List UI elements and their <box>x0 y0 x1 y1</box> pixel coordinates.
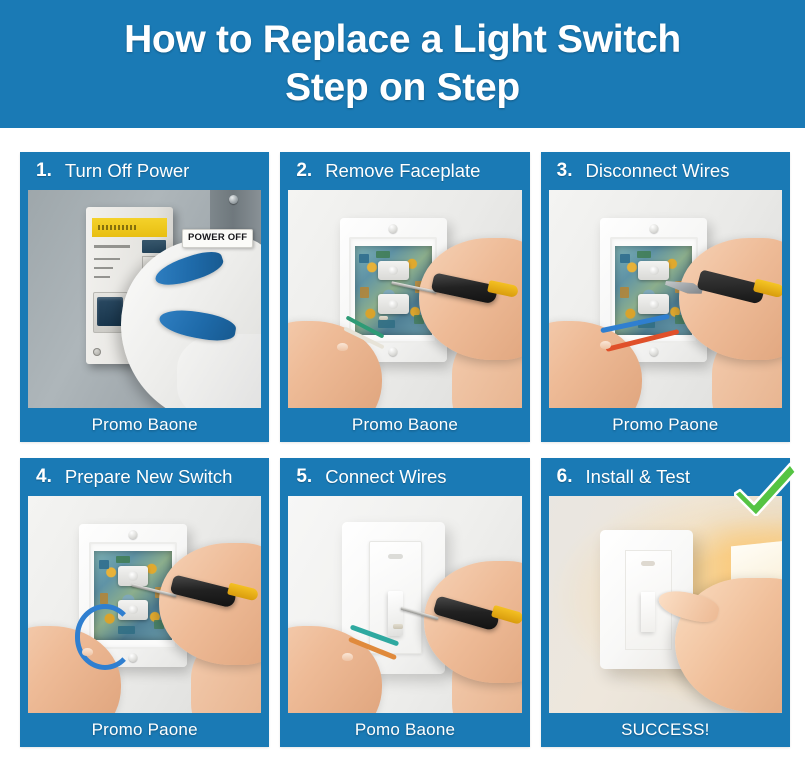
infographic-page: How to Replace a Light Switch Step on St… <box>0 0 805 761</box>
step-title-6: Install & Test <box>586 466 691 488</box>
step-header-6: 6. Install & Test <box>541 458 790 496</box>
page-title-line-1: How to Replace a Light Switch <box>124 17 681 63</box>
internal-component <box>100 593 108 604</box>
wire-stripped-tip <box>393 624 403 629</box>
step-title-1: Turn Off Power <box>65 160 189 182</box>
step-photo-4 <box>28 496 261 714</box>
step-number-3: 3. <box>557 160 573 182</box>
internal-component <box>620 254 630 263</box>
internal-component <box>360 287 368 298</box>
internal-component <box>376 251 390 258</box>
page-title-line-2: Step on Step <box>285 65 520 111</box>
thumbnail <box>600 341 611 349</box>
faceplate-screw-icon <box>389 347 398 356</box>
step-card-5[interactable]: 5. Connect Wires <box>280 458 529 748</box>
step-photo-3 <box>549 190 782 408</box>
step-number-4: 4. <box>36 466 52 488</box>
step-caption-1: Promo Baone <box>20 408 269 442</box>
internal-component <box>99 560 109 569</box>
screwdriver[interactable] <box>400 598 521 646</box>
step-title-5: Connect Wires <box>325 466 446 488</box>
steps-grid: 1. Turn Off Power <box>20 152 790 747</box>
step-caption-3: Promo Paone <box>541 408 790 442</box>
faceplate-screw-icon <box>649 347 658 356</box>
faceplate-screw-icon <box>389 224 398 233</box>
screwdriver-shaft <box>391 281 437 294</box>
step-number-2: 2. <box>296 160 312 182</box>
internal-component <box>620 287 628 298</box>
step-number-1: 1. <box>36 160 52 182</box>
step-header-1: 1. Turn Off Power <box>20 152 269 190</box>
screwdriver[interactable] <box>131 574 262 622</box>
glove-cuff <box>177 334 261 408</box>
thumbnail <box>82 648 93 656</box>
step-card-4[interactable]: 4. Prepare New Switch <box>20 458 269 748</box>
step-number-5: 5. <box>296 466 312 488</box>
step-number-6: 6. <box>557 466 573 488</box>
switch-paddle[interactable] <box>641 592 655 632</box>
step-caption-5: Pomo Baone <box>280 713 529 747</box>
breaker-print-line <box>94 245 130 248</box>
step-card-3[interactable]: 3. Disconnect Wires <box>541 152 790 442</box>
step-title-4: Prepare New Switch <box>65 466 233 488</box>
step-header-2: 2. Remove Faceplate <box>280 152 529 190</box>
screwdriver[interactable] <box>391 270 522 318</box>
step-header-5: 5. Connect Wires <box>280 458 529 496</box>
step-caption-6: SUCCESS! <box>541 713 790 747</box>
title-banner: How to Replace a Light Switch Step on St… <box>0 0 805 128</box>
power-off-label: POWER OFF <box>182 229 253 248</box>
faceplate-screw-icon <box>649 224 658 233</box>
step-card-2[interactable]: 2. Remove Faceplate <box>280 152 529 442</box>
faceplate-screw-icon <box>128 530 137 539</box>
step-card-1[interactable]: 1. Turn Off Power <box>20 152 269 442</box>
screwdriver-shaft <box>131 584 176 598</box>
step-photo-1: POWER OFF <box>28 190 261 408</box>
breaker-yellow-band <box>92 218 166 237</box>
wire-blue-loop <box>75 604 136 669</box>
step-header-3: 3. Disconnect Wires <box>541 152 790 190</box>
breaker-print-line <box>94 276 110 278</box>
step-caption-4: Promo Paone <box>20 713 269 747</box>
thumbnail <box>337 343 348 351</box>
internal-component <box>637 251 651 258</box>
breaker-screw-icon <box>93 348 101 356</box>
internal-component <box>116 556 130 563</box>
step-title-2: Remove Faceplate <box>325 160 480 182</box>
wire-stripped-tip <box>379 316 388 320</box>
internal-component <box>359 254 369 263</box>
step-title-3: Disconnect Wires <box>586 160 730 182</box>
breaker-print-line <box>94 258 120 260</box>
step-photo-2 <box>288 190 521 408</box>
step-header-4: 4. Prepare New Switch <box>20 458 269 496</box>
breaker-toggle-lever[interactable] <box>97 297 124 327</box>
step-card-6[interactable]: 6. Install & Test SUCCESS! <box>541 458 790 748</box>
internal-component <box>378 320 395 328</box>
step-photo-6 <box>549 496 782 714</box>
step-caption-2: Promo Baone <box>280 408 529 442</box>
thumbnail <box>342 653 353 661</box>
step-photo-5 <box>288 496 521 714</box>
breaker-print-line <box>94 267 113 269</box>
wire-cutter-pliers[interactable] <box>665 268 782 320</box>
panel-screw-icon <box>229 195 238 204</box>
